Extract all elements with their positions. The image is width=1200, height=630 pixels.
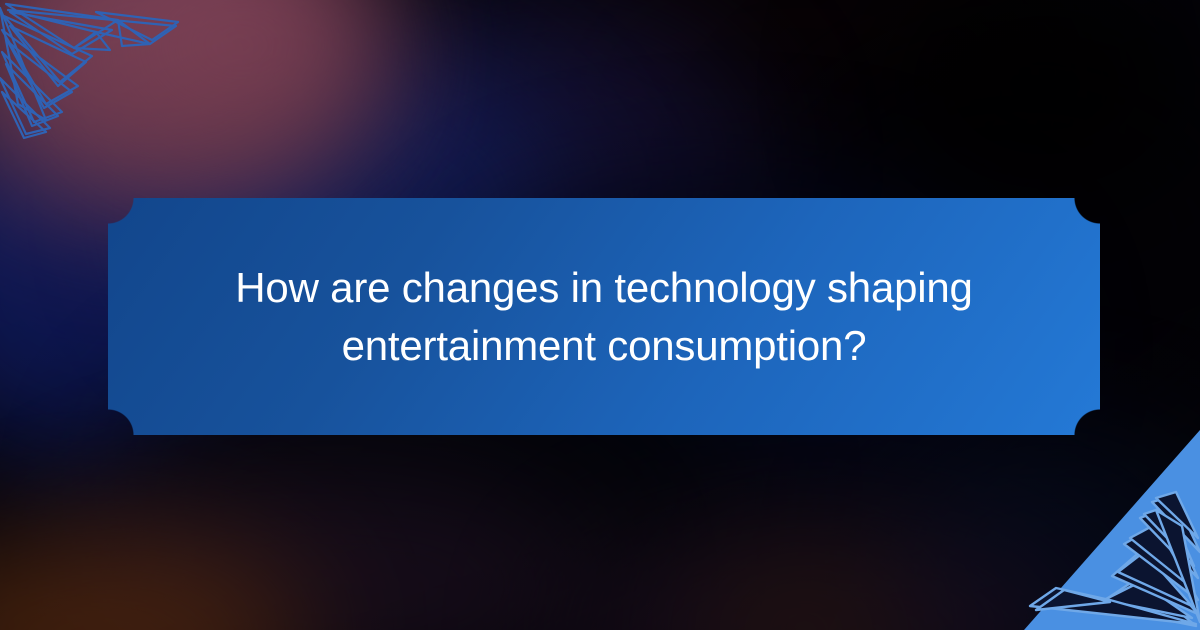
- page-title: How are changes in technology shaping en…: [226, 259, 982, 375]
- poster-canvas: How are changes in technology shaping en…: [0, 0, 1200, 630]
- headline-card: How are changes in technology shaping en…: [108, 198, 1100, 435]
